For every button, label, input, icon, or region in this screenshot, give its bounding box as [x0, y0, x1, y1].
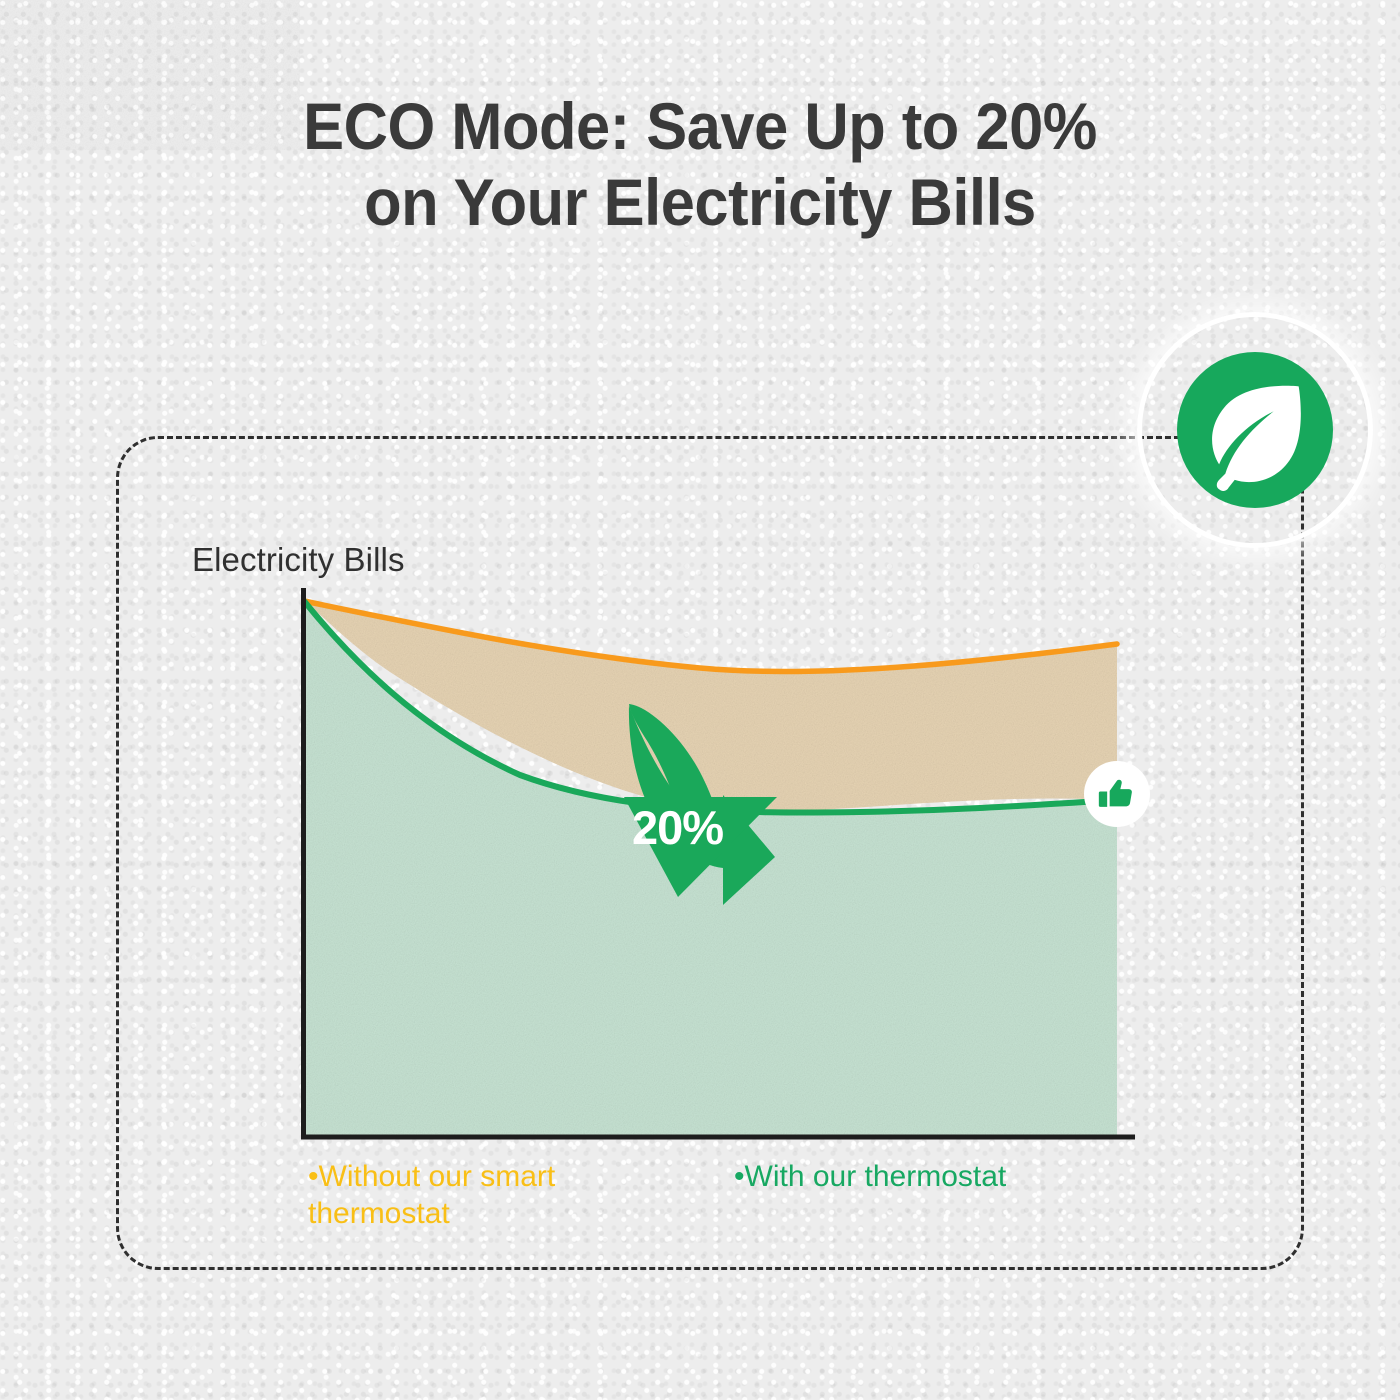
y-axis-label: Electricity Bills: [192, 541, 405, 579]
thumbs-up-badge[interactable]: [1084, 761, 1150, 827]
leaf-icon: [1177, 352, 1333, 508]
page-title: ECO Mode: Save Up to 20% on Your Electri…: [0, 88, 1400, 240]
savings-percent-label: 20%: [632, 800, 723, 855]
title-line-1: ECO Mode: Save Up to 20%: [49, 88, 1351, 164]
thumbs-up-icon: [1097, 774, 1137, 814]
eco-leaf-badge[interactable]: [1137, 312, 1373, 548]
legend-item-without-thermostat[interactable]: •Without our smart thermostat: [308, 1158, 648, 1232]
title-line-2: on Your Electricity Bills: [49, 164, 1351, 240]
legend-item-with-thermostat[interactable]: •With our thermostat: [734, 1158, 1154, 1195]
